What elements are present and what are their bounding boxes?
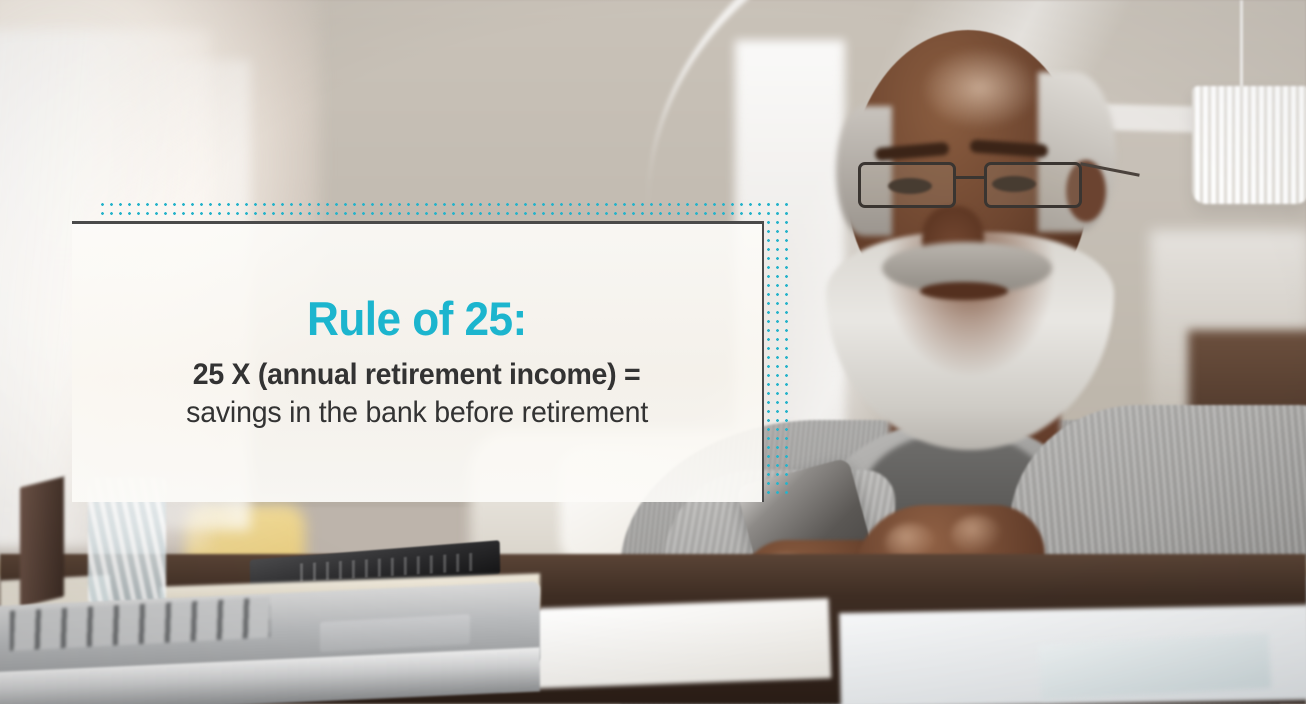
paper-sheet bbox=[499, 598, 832, 689]
pendant-lamp-cord bbox=[1240, 0, 1243, 96]
card-description-line: savings in the bank before retirement bbox=[186, 393, 648, 432]
knuckle-highlight bbox=[951, 515, 1003, 555]
callout-card: Rule of 25: 25 X (annual retirement inco… bbox=[72, 221, 764, 502]
eyeglass-lens-right bbox=[984, 162, 1082, 208]
graphic-canvas: Rule of 25: 25 X (annual retirement inco… bbox=[0, 0, 1306, 704]
card-formula-line: 25 X (annual retirement income) = bbox=[193, 357, 641, 394]
eyeglass-bridge bbox=[956, 176, 986, 179]
lips bbox=[920, 282, 1008, 300]
laptop-screen bbox=[20, 477, 64, 608]
eyeglass-lens-left bbox=[858, 162, 956, 208]
head-highlight bbox=[920, 46, 1040, 130]
eyeglasses bbox=[858, 162, 1094, 212]
card-title: Rule of 25: bbox=[307, 294, 527, 343]
